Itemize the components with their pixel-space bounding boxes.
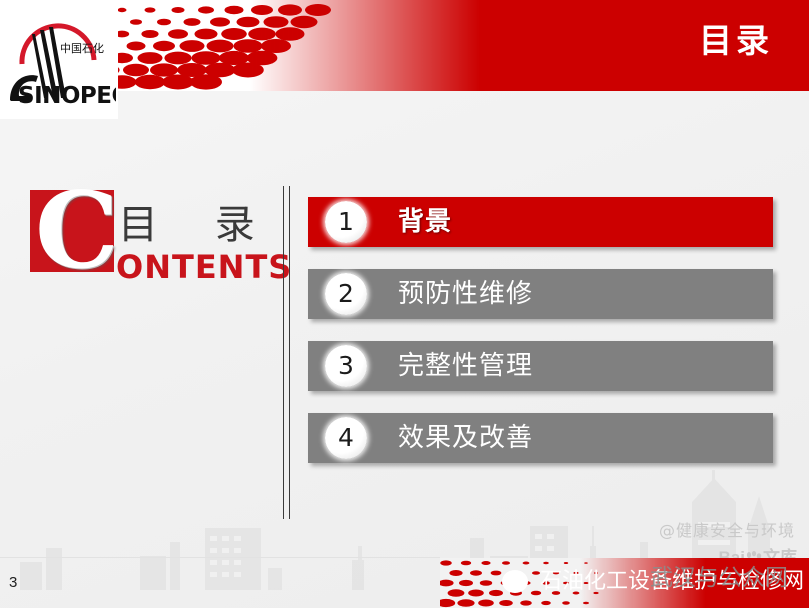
agenda-item-1[interactable]: 1 背景 bbox=[308, 197, 773, 247]
agenda-number-1: 1 bbox=[325, 201, 367, 243]
svg-text:中国石化: 中国石化 bbox=[60, 41, 104, 55]
agenda-item-4[interactable]: 4 效果及改善 bbox=[308, 413, 773, 463]
agenda-label-3: 完整性管理 bbox=[398, 350, 533, 382]
wechat-icon bbox=[502, 570, 528, 593]
vertical-divider-line-1 bbox=[283, 186, 284, 519]
overlay-watermark: 武汉与公众网 bbox=[650, 558, 788, 592]
sinopec-logo-mark: SINOPEC 中国石化 bbox=[2, 2, 116, 116]
agenda-number-4: 4 bbox=[325, 417, 367, 459]
agenda-label-2: 预防性维修 bbox=[398, 278, 533, 310]
slide-header: 目录 bbox=[0, 0, 809, 91]
page-title: 目录 bbox=[699, 24, 773, 57]
hse-watermark: @健康安全与环境 bbox=[659, 517, 795, 541]
contents-big-c: C bbox=[35, 178, 119, 283]
page-number: 3 bbox=[9, 574, 17, 591]
agenda-number-2: 2 bbox=[325, 273, 367, 315]
agenda-number-3: 3 bbox=[325, 345, 367, 387]
contents-chinese-title: 目 录 bbox=[118, 192, 277, 250]
svg-text:SINOPEC: SINOPEC bbox=[18, 83, 116, 109]
contents-heading: C 目 录 ONTENTS bbox=[30, 190, 270, 286]
agenda-label-4: 效果及改善 bbox=[398, 422, 533, 454]
contents-latin-title: ONTENTS bbox=[116, 248, 292, 286]
agenda-item-3[interactable]: 3 完整性管理 bbox=[308, 341, 773, 391]
agenda-item-2[interactable]: 2 预防性维修 bbox=[308, 269, 773, 319]
agenda-list: 1 背景 2 预防性维修 3 完整性管理 4 效果及改善 bbox=[308, 197, 773, 485]
sinopec-logo: SINOPEC 中国石化 bbox=[0, 0, 118, 119]
slide-canvas: 目录 SINOPEC 中国石化 C 目 录 ONTENTS 1 背景 bbox=[0, 0, 809, 608]
footer-divider-rule bbox=[0, 557, 440, 558]
vertical-divider-line-2 bbox=[289, 186, 290, 519]
agenda-label-1: 背景 bbox=[398, 206, 452, 238]
